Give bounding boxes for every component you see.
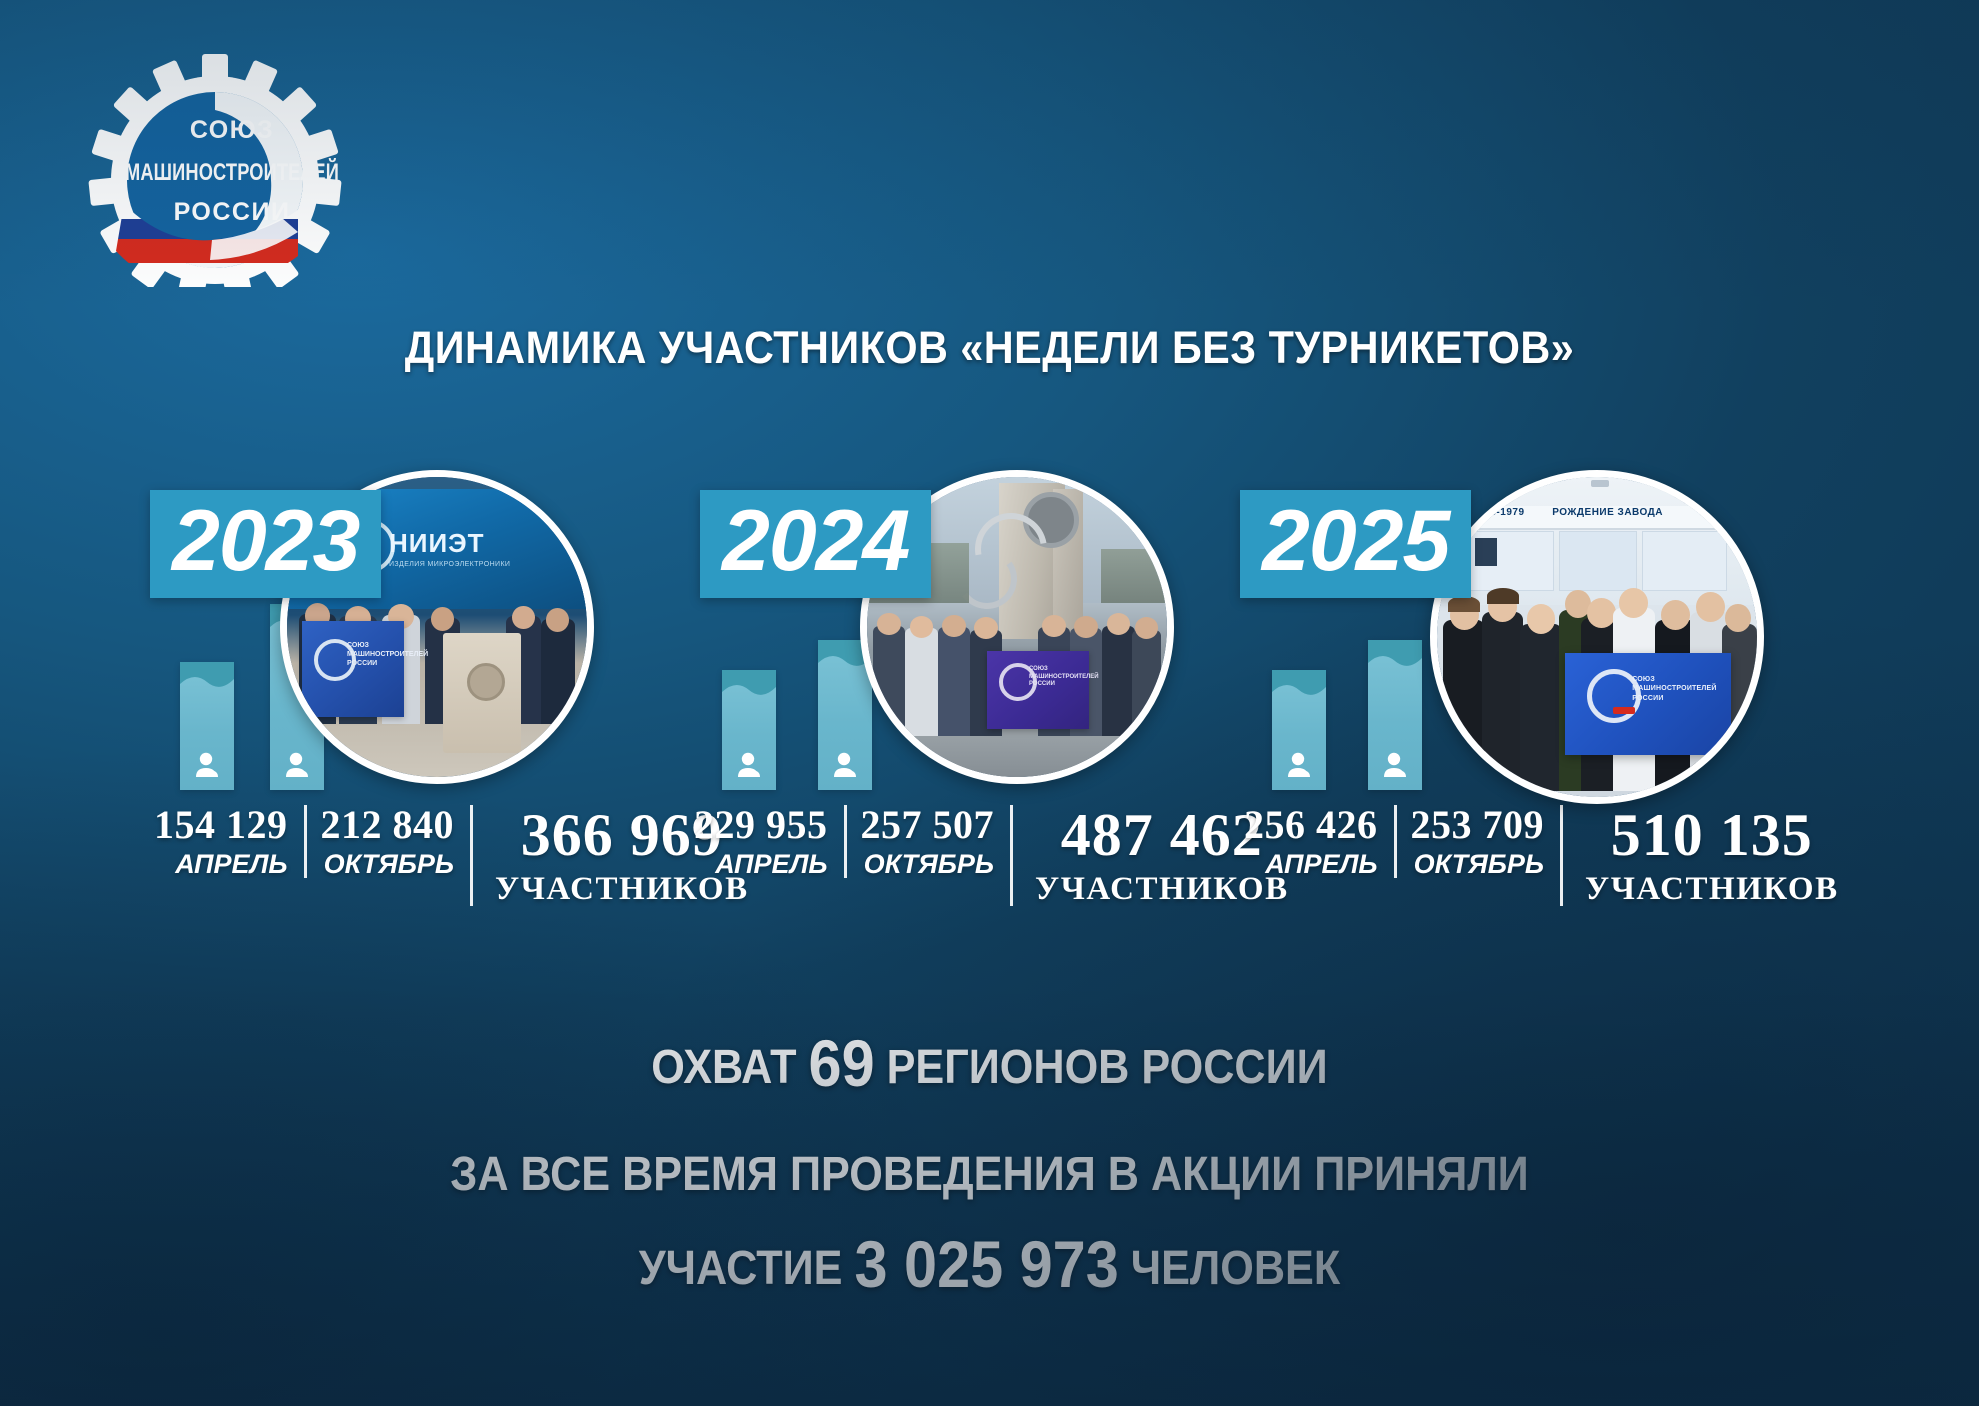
stat-2025-april: 256 426 АПРЕЛЬ (1230, 805, 1394, 878)
stat-value: 256 426 (1244, 805, 1378, 845)
person-icon (1284, 750, 1314, 780)
stats-2025: 256 426 АПРЕЛЬ 253 709 ОКТЯБРЬ 510 135 У… (1230, 805, 1839, 910)
total-value: 510 135 (1585, 805, 1839, 865)
photo-2025: 1968-1979 РОЖДЕНИЕ ЗАВОДА (1430, 470, 1764, 804)
logo-text-line3: РОССИИ (174, 198, 291, 226)
stat-value: 212 840 (321, 805, 455, 845)
bar-2025-october (1368, 640, 1422, 790)
stat-value: 229 955 (694, 805, 828, 845)
total-line-2: УЧАСТИЕ 3 025 973 ЧЕЛОВЕК (99, 1231, 1880, 1297)
total-prefix: УЧАСТИЕ (639, 1242, 855, 1295)
person-icon (1380, 750, 1410, 780)
total-suffix: ЧЕЛОВЕК (1119, 1242, 1340, 1295)
stat-2023-april: 154 129 АПРЕЛЬ (140, 805, 304, 878)
page-title: ДИНАМИКА УЧАСТНИКОВ «НЕДЕЛИ БЕЗ ТУРНИКЕТ… (79, 322, 1900, 374)
stats-2024: 229 955 АПРЕЛЬ 257 507 ОКТЯБРЬ 487 462 У… (680, 805, 1289, 910)
stat-2023-october: 212 840 ОКТЯБРЬ (304, 805, 471, 878)
stat-2024-april: 229 955 АПРЕЛЬ (680, 805, 844, 878)
stat-value: 253 709 (1411, 805, 1545, 845)
stat-2025-total: 510 135 УЧАСТНИКОВ (1560, 805, 1839, 906)
bar-wave-cap (722, 670, 776, 704)
total-line-1: ЗА ВСЕ ВРЕМЯ ПРОВЕДЕНИЯ В АКЦИИ ПРИНЯЛИ (99, 1151, 1880, 1199)
year-group-2023: НИИЭТ ИЗДЕЛИЯ МИКРОЭЛЕКТРОНИКИ (150, 470, 630, 950)
coverage-number: 69 (809, 1026, 875, 1100)
stat-label: АПРЕЛЬ (154, 851, 288, 878)
logo-text-line1: СОЮЗ (190, 116, 274, 144)
bar-wave-cap (1368, 640, 1422, 674)
year-badge-2025: 2025 (1240, 490, 1471, 598)
stat-label: АПРЕЛЬ (694, 851, 828, 878)
coverage-suffix: РЕГИОНОВ РОССИИ (875, 1041, 1328, 1094)
organization-logo: СОЮЗ МАШИНОСТРОИТЕЛЕЙ РОССИИ (80, 52, 342, 287)
person-icon (192, 750, 222, 780)
stat-value: 257 507 (861, 805, 995, 845)
coverage-prefix: ОХВАТ (651, 1041, 808, 1094)
bar-2025-april (1272, 670, 1326, 790)
bar-wave-cap (180, 662, 234, 696)
total-people-number: 3 025 973 (855, 1227, 1119, 1301)
year-group-2025: 1968-1979 РОЖДЕНИЕ ЗАВОДА (1240, 470, 1760, 950)
year-badge-2024: 2024 (700, 490, 931, 598)
stat-2025-october: 253 709 ОКТЯБРЬ (1394, 805, 1561, 878)
stats-2023: 154 129 АПРЕЛЬ 212 840 ОКТЯБРЬ 366 969 У… (140, 805, 749, 910)
coverage-line: ОХВАТ 69 РЕГИОНОВ РОССИИ (99, 1030, 1880, 1096)
year-group-2024: СОЮЗМАШИНОСТРОИТЕЛЕЙРОССИИ 2024 (700, 470, 1180, 950)
year-groups: НИИЭТ ИЗДЕЛИЯ МИКРОЭЛЕКТРОНИКИ (0, 470, 1979, 950)
bar-wave-cap (1272, 670, 1326, 704)
stat-label: ОКТЯБРЬ (1411, 851, 1545, 878)
stat-label: ОКТЯБРЬ (861, 851, 995, 878)
total-label: УЧАСТНИКОВ (1585, 873, 1839, 906)
bar-2024-april (722, 670, 776, 790)
bar-2023-april (180, 662, 234, 790)
stat-label: ОКТЯБРЬ (321, 851, 455, 878)
stat-value: 154 129 (154, 805, 288, 845)
stat-label: АПРЕЛЬ (1244, 851, 1378, 878)
person-icon (830, 750, 860, 780)
person-icon (734, 750, 764, 780)
footer-summary: ОХВАТ 69 РЕГИОНОВ РОССИИ ЗА ВСЕ ВРЕМЯ ПР… (0, 1030, 1979, 1297)
stat-2024-october: 257 507 ОКТЯБРЬ (844, 805, 1011, 878)
year-badge-2023: 2023 (150, 490, 381, 598)
infographic-poster: СОЮЗ МАШИНОСТРОИТЕЛЕЙ РОССИИ ДИНАМИКА УЧ… (0, 0, 1979, 1406)
logo-text-line2: МАШИНОСТРОИТЕЛЕЙ (125, 158, 339, 186)
